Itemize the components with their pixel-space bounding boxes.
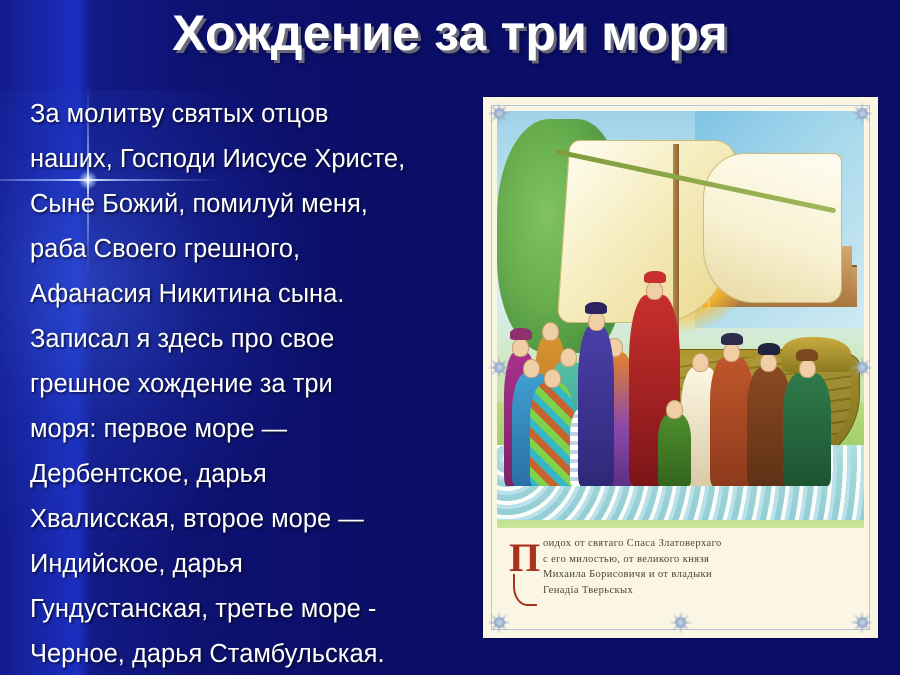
figure-hat [721,333,743,345]
figure-hat [796,349,818,361]
caption-line: Генадiа Тверьскых [543,583,858,599]
body-text-block: За молитву святых отцов наших, Господи И… [30,92,470,675]
illustration-miniature: П оидох от святаго Спаса Златоверхаго с … [483,97,878,638]
figure-head [542,322,559,341]
figure-head [760,353,777,372]
figure [658,414,691,486]
figure [530,383,574,486]
miniature-artwork [497,111,864,528]
body-line: грешное хождение за три [30,362,470,407]
body-line: Дербентское, дарья [30,452,470,497]
body-line: Черное, дарья Стамбульская. [30,632,470,675]
body-line: Афанасия Никитина сына. [30,272,470,317]
figure-head [666,400,683,419]
figure-head [692,353,709,372]
figure-head [723,343,740,362]
slide-canvas: Хождение за три моря За молитву святых о… [0,0,900,675]
figure-head [799,359,816,378]
figure-head [646,281,663,300]
figure [783,373,831,487]
caption-line: с его милостью, от великого князя [543,552,858,568]
figure-head [544,369,561,388]
figure-head [523,359,540,378]
caption-text: оидох от святаго Спаса Златоверхаго с ег… [543,536,858,598]
body-line: наших, Господи Иисусе Христе, [30,137,470,182]
figure-head [588,312,605,331]
figure-hat [510,328,532,340]
body-line: Сыне Божий, помилуй меня, [30,182,470,227]
figure-head [512,338,529,357]
body-line: За молитву святых отцов [30,92,470,137]
figure-hat [585,302,607,314]
page-title: Хождение за три моря [0,4,900,62]
figure-hat [644,271,666,283]
figure [578,326,615,486]
caption-line: оидох от святаго Спаса Златоверхаго [543,536,858,552]
figure-head [560,348,577,367]
body-line: Индийское, дарья [30,542,470,587]
body-line: Хвалисская, второе море — [30,497,470,542]
body-line: Записал я здесь про свое [30,317,470,362]
illustration-caption: П оидох от святаго Спаса Златоверхаго с … [509,536,858,620]
crowd-of-figures [497,228,864,487]
body-line: Гундустанская, третье море - [30,587,470,632]
caption-line: Михаила Борисовичя и от владыки [543,567,858,583]
figure-hat [758,343,780,355]
caption-dropcap: П [509,538,540,578]
body-line: моря: первое море — [30,407,470,452]
body-line: раба Своего грешного, [30,227,470,272]
